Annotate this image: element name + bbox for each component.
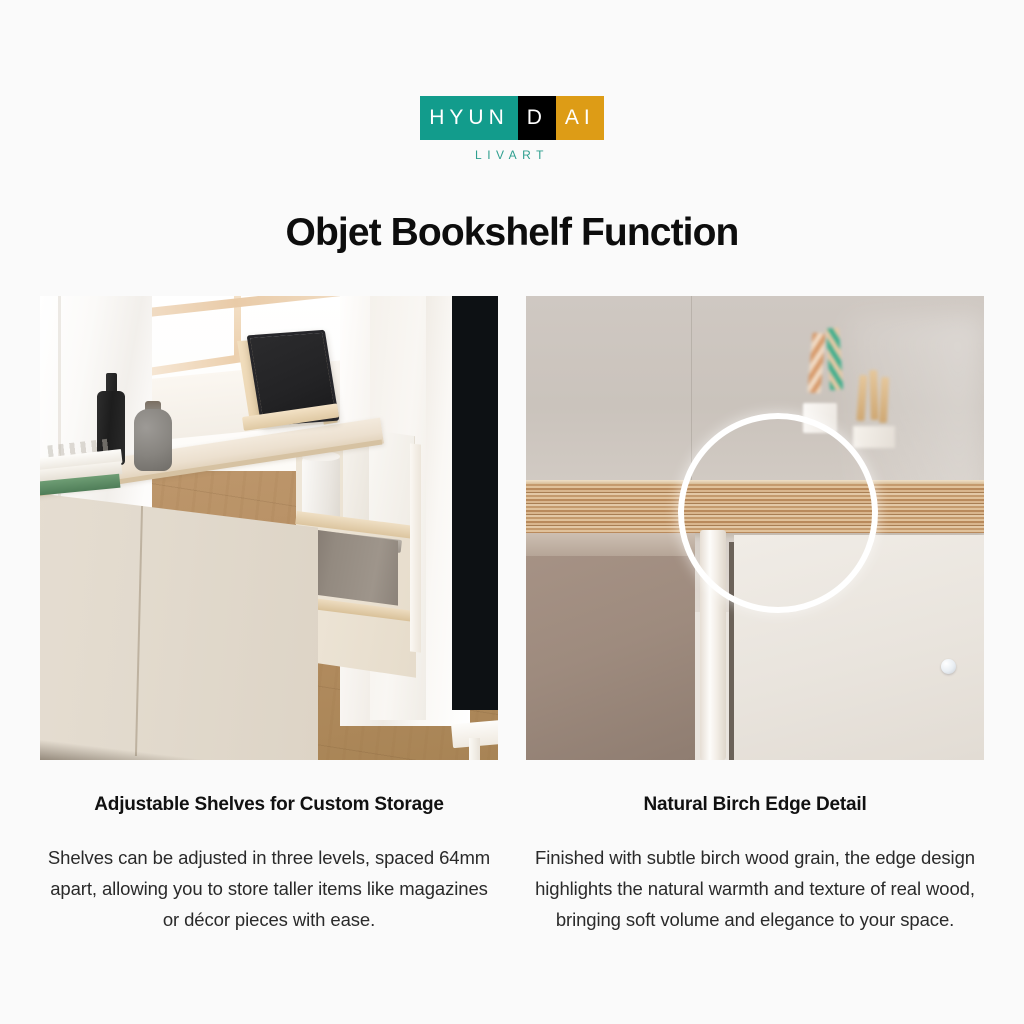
logo-letters-amber: AI bbox=[556, 96, 604, 140]
birch-edge-detail-photo bbox=[526, 296, 984, 760]
marketing-page: HYUN D AI LIVART Objet Bookshelf Functio… bbox=[0, 0, 1024, 1024]
cabinet-front bbox=[40, 492, 318, 760]
caption-col-right: Natural Birch Edge Detail Finished with … bbox=[526, 794, 984, 935]
feature-card-right bbox=[526, 296, 984, 760]
logo-letters-black: D bbox=[518, 96, 556, 140]
bookshelf-room-photo bbox=[40, 296, 498, 760]
grey-ceramic-vase bbox=[134, 409, 172, 471]
feature-caption-row: Adjustable Shelves for Custom Storage Sh… bbox=[40, 794, 984, 935]
brand-sub-wordmark: LIVART bbox=[0, 148, 1024, 162]
feature-cards: Adjustable Shelves for Custom Storage Sh… bbox=[40, 296, 984, 935]
page-title: Objet Bookshelf Function bbox=[0, 211, 1024, 255]
feature-photo-row bbox=[40, 296, 984, 760]
caption-col-left: Adjustable Shelves for Custom Storage Sh… bbox=[40, 794, 498, 935]
brand-logo-wordmark: HYUN D AI bbox=[420, 96, 604, 140]
shelf-side-panel bbox=[410, 443, 421, 652]
stool-leg bbox=[469, 738, 480, 760]
door-knob bbox=[941, 659, 956, 674]
side-panel-taupe-top bbox=[526, 533, 695, 556]
side-panel-taupe bbox=[526, 533, 695, 760]
caption-body-left: Shelves can be adjusted in three levels,… bbox=[40, 842, 498, 935]
feature-card-left bbox=[40, 296, 498, 760]
caption-body-right: Finished with subtle birch wood grain, t… bbox=[526, 842, 984, 935]
dark-wall-panel bbox=[452, 296, 498, 710]
magnifier-circle-highlight bbox=[678, 413, 878, 613]
logo-block-amber: AI bbox=[556, 96, 604, 140]
logo-letters-teal: HYUN bbox=[420, 96, 518, 140]
pencil-two bbox=[869, 370, 879, 420]
brand-logo: HYUN D AI LIVART bbox=[0, 96, 1024, 162]
pencil-holder bbox=[853, 426, 895, 448]
logo-block-black: D bbox=[518, 96, 556, 140]
logo-block-teal: HYUN bbox=[420, 96, 518, 140]
caption-title-left: Adjustable Shelves for Custom Storage bbox=[40, 794, 498, 816]
caption-title-right: Natural Birch Edge Detail bbox=[526, 794, 984, 816]
